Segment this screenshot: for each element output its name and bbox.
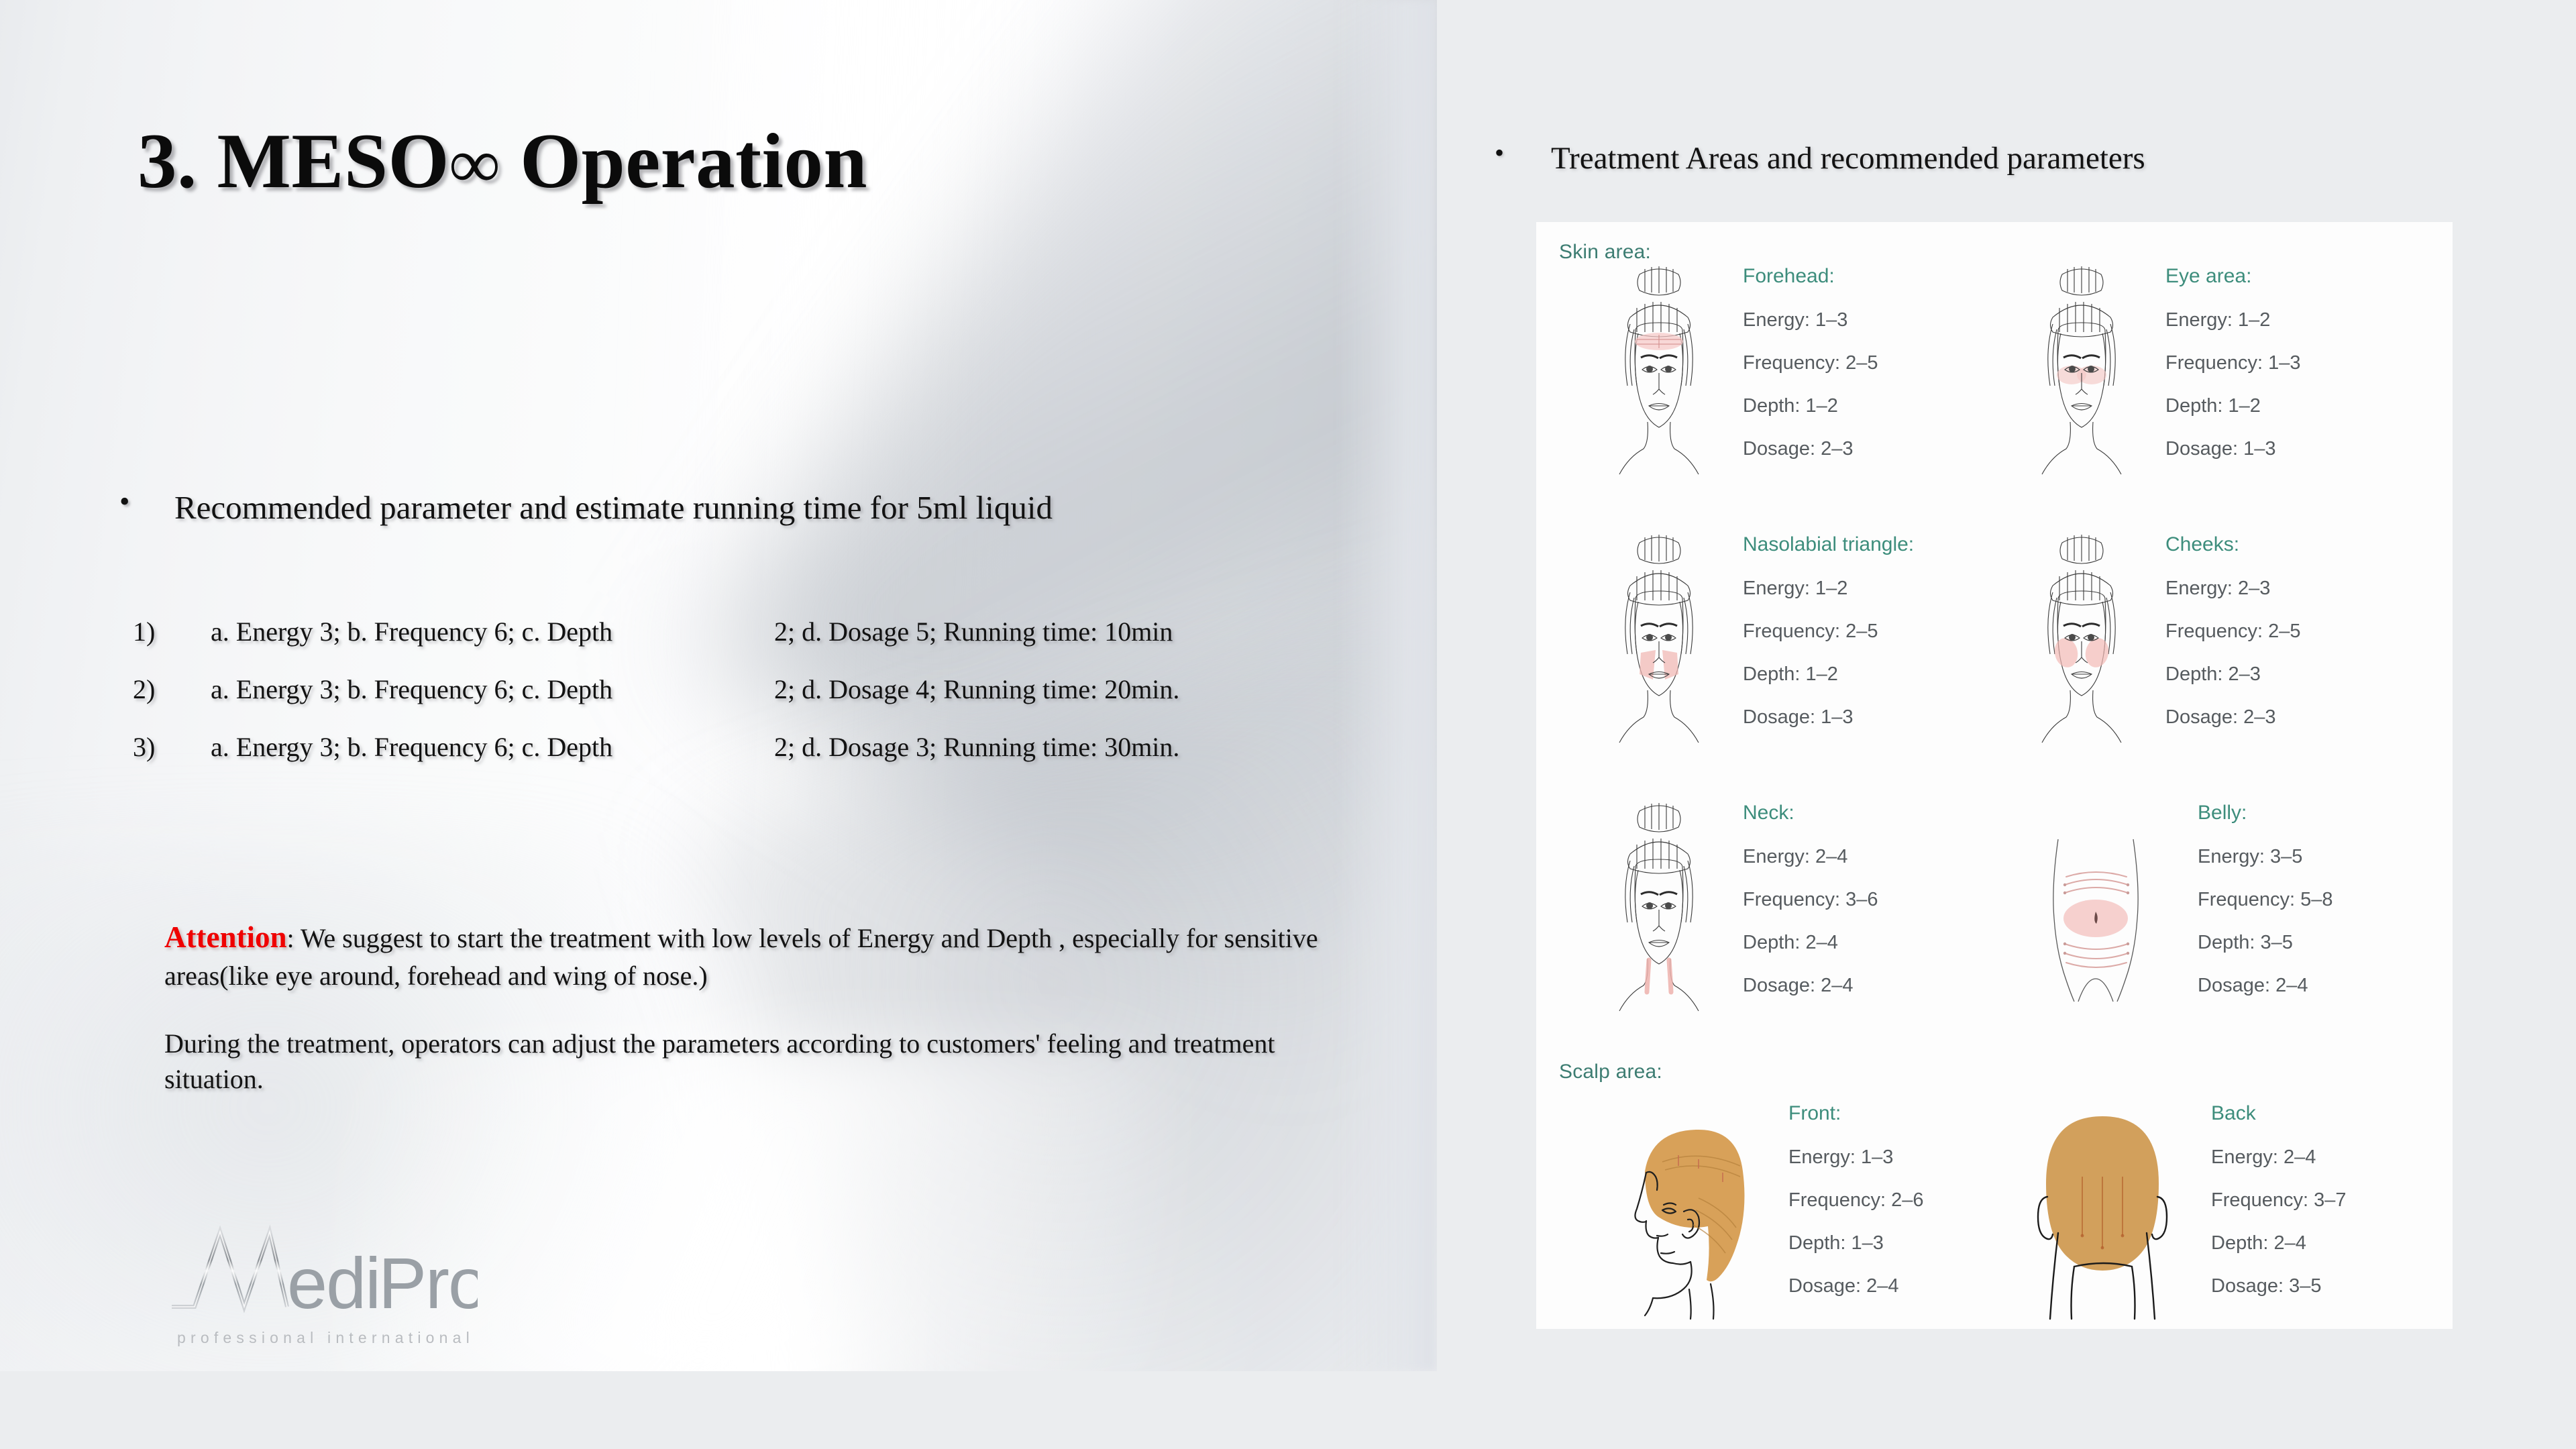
param-frequency: Frequency: 2–5 — [1743, 352, 2014, 374]
area-params: Nasolabial triangle: Energy: 1–2 Frequen… — [1720, 519, 2014, 749]
chart-row: Forehead: Energy: 1–3 Frequency: 2–5 Dep… — [1536, 250, 2453, 519]
area-title: Belly: — [2198, 802, 2436, 824]
face-cheeks-figure — [2021, 519, 2143, 760]
chart-row: Front: Energy: 1–3 Frequency: 2–6 Depth:… — [1536, 1087, 2453, 1329]
bullet-dot-icon: • — [1495, 140, 1516, 166]
title-prefix: 3. MESO — [138, 118, 449, 205]
area-title: Eye area: — [2165, 265, 2436, 288]
area-cell-nasolabial: Nasolabial triangle: Energy: 1–2 Frequen… — [1598, 519, 2014, 787]
area-title: Cheeks: — [2165, 533, 2436, 556]
area-params: Forehead: Energy: 1–3 Frequency: 2–5 Dep… — [1720, 250, 2014, 481]
face-eye-figure — [2021, 250, 2143, 492]
numbered-parameter-list: 1) a. Energy 3; b. Frequency 6; c. Depth… — [133, 619, 1340, 792]
param-frequency: Frequency: 1–3 — [2165, 352, 2436, 374]
area-title: Back — [2211, 1102, 2436, 1125]
area-params: Front: Energy: 1–3 Frequency: 2–6 Depth:… — [1766, 1087, 2014, 1318]
section-label-scalp: Scalp area: — [1559, 1061, 1662, 1083]
face-nasolabial-figure — [1598, 519, 1720, 760]
list-item: 1) a. Energy 3; b. Frequency 6; c. Depth… — [133, 619, 1340, 645]
title-suffix: Operation — [500, 118, 867, 205]
param-frequency: Frequency: 2–5 — [1743, 621, 2014, 643]
bullet-dot-icon: • — [119, 487, 142, 517]
param-frequency: Frequency: 5–8 — [2198, 889, 2436, 911]
right-bullet-text: Treatment Areas and recommended paramete… — [1551, 140, 2145, 177]
area-params: Belly: Energy: 3–5 Frequency: 5–8 Depth:… — [2175, 787, 2436, 1018]
area-title: Front: — [1788, 1102, 2014, 1125]
param-energy: Energy: 2–4 — [2211, 1146, 2436, 1169]
area-params: Eye area: Energy: 1–2 Frequency: 1–3 Dep… — [2143, 250, 2436, 481]
area-cell-neck: Neck: Energy: 2–4 Frequency: 3–6 Depth: … — [1598, 787, 2014, 1055]
list-item-index: 2) — [133, 676, 211, 703]
head-back-figure — [2021, 1087, 2188, 1329]
param-depth: Depth: 1–3 — [1788, 1232, 2014, 1254]
area-cell-front: Front: Energy: 1–3 Frequency: 2–6 Depth:… — [1598, 1087, 2014, 1329]
chart-row: Nasolabial triangle: Energy: 1–2 Frequen… — [1536, 519, 2453, 787]
param-energy: Energy: 1–2 — [2165, 309, 2436, 331]
param-frequency: Frequency: 3–7 — [2211, 1189, 2436, 1212]
area-params: Neck: Energy: 2–4 Frequency: 3–6 Depth: … — [1720, 787, 2014, 1018]
param-dosage: Dosage: 2–4 — [1788, 1275, 2014, 1297]
param-energy: Energy: 3–5 — [2198, 846, 2436, 868]
area-title: Nasolabial triangle: — [1743, 533, 2014, 556]
param-dosage: Dosage: 1–3 — [2165, 438, 2436, 460]
lead-bullet-text: Recommended parameter and estimate runni… — [174, 487, 1053, 528]
param-frequency: Frequency: 2–6 — [1788, 1189, 2014, 1212]
svg-text:Pro: Pro — [378, 1242, 478, 1324]
param-depth: Depth: 1–2 — [1743, 395, 2014, 417]
param-energy: Energy: 1–3 — [1788, 1146, 2014, 1169]
lead-bullet-row: • Recommended parameter and estimate run… — [119, 487, 1053, 528]
attention-paragraph: Attention: We suggest to start the treat… — [164, 918, 1365, 994]
list-item-segment-b: 2; d. Dosage 4; Running time: 20min. — [774, 676, 1179, 703]
list-item-segment-a: a. Energy 3; b. Frequency 6; c. Depth — [211, 676, 774, 703]
area-cell-cheeks: Cheeks: Energy: 2–3 Frequency: 2–5 Depth… — [2021, 519, 2436, 787]
param-depth: Depth: 3–5 — [2198, 932, 2436, 954]
svg-text:edi: edi — [287, 1242, 380, 1324]
area-title: Forehead: — [1743, 265, 2014, 288]
list-item-index: 3) — [133, 734, 211, 761]
infinity-symbol: ∞ — [449, 124, 500, 203]
param-energy: Energy: 1–3 — [1743, 309, 2014, 331]
param-dosage: Dosage: 1–3 — [1743, 706, 2014, 729]
param-dosage: Dosage: 2–4 — [1743, 975, 2014, 997]
param-dosage: Dosage: 2–4 — [2198, 975, 2436, 997]
param-depth: Depth: 1–2 — [2165, 395, 2436, 417]
presentation-slide: 3. MESO∞ Operation • Recommended paramet… — [0, 0, 2576, 1449]
param-depth: Depth: 2–4 — [1743, 932, 2014, 954]
list-item: 2) a. Energy 3; b. Frequency 6; c. Depth… — [133, 676, 1340, 703]
right-bullet-row: • Treatment Areas and recommended parame… — [1495, 140, 2145, 177]
area-params: Back Energy: 2–4 Frequency: 3–7 Depth: 2… — [2188, 1087, 2436, 1318]
face-neck-figure — [1598, 787, 1720, 1028]
param-depth: Depth: 2–3 — [2165, 663, 2436, 686]
param-depth: Depth: 2–4 — [2211, 1232, 2436, 1254]
attention-body: : We suggest to start the treatment with… — [164, 923, 1318, 991]
param-frequency: Frequency: 2–5 — [2165, 621, 2436, 643]
param-dosage: Dosage: 2–3 — [1743, 438, 2014, 460]
list-item-index: 1) — [133, 619, 211, 645]
param-energy: Energy: 2–4 — [1743, 846, 2014, 868]
param-energy: Energy: 1–2 — [1743, 578, 2014, 600]
param-dosage: Dosage: 2–3 — [2165, 706, 2436, 729]
list-item-segment-b: 2; d. Dosage 5; Running time: 10min — [774, 619, 1173, 645]
area-cell-back: Back Energy: 2–4 Frequency: 3–7 Depth: 2… — [2021, 1087, 2436, 1329]
param-frequency: Frequency: 3–6 — [1743, 889, 2014, 911]
area-cell-eye: Eye area: Energy: 1–2 Frequency: 1–3 Dep… — [2021, 250, 2436, 519]
head-profile-figure — [1598, 1087, 1766, 1329]
area-cell-forehead: Forehead: Energy: 1–3 Frequency: 2–5 Dep… — [1598, 250, 2014, 519]
area-cell-belly: Belly: Energy: 3–5 Frequency: 5–8 Depth:… — [2021, 787, 2436, 1055]
param-energy: Energy: 2–3 — [2165, 578, 2436, 600]
medipro-logo-graphic: edi Pro — [169, 1207, 478, 1348]
list-item-segment-a: a. Energy 3; b. Frequency 6; c. Depth — [211, 619, 774, 645]
treatment-areas-chart: Skin area: Scalp area: — [1536, 222, 2453, 1329]
face-forehead-figure — [1598, 250, 1720, 492]
list-item-segment-b: 2; d. Dosage 3; Running time: 30min. — [774, 734, 1179, 761]
list-item: 3) a. Energy 3; b. Frequency 6; c. Depth… — [133, 734, 1340, 761]
area-title: Neck: — [1743, 802, 2014, 824]
list-item-segment-a: a. Energy 3; b. Frequency 6; c. Depth — [211, 734, 774, 761]
param-dosage: Dosage: 3–5 — [2211, 1275, 2436, 1297]
attention-block: Attention: We suggest to start the treat… — [164, 918, 1365, 1097]
logo-tagline: professional international — [177, 1329, 474, 1347]
page-title: 3. MESO∞ Operation — [138, 119, 867, 204]
param-depth: Depth: 1–2 — [1743, 663, 2014, 686]
note-paragraph: During the treatment, operators can adju… — [164, 1026, 1365, 1097]
medipro-logo: edi Pro professional international — [169, 1207, 478, 1348]
left-content-area: 3. MESO∞ Operation • Recommended paramet… — [0, 0, 1437, 1371]
attention-label: Attention — [164, 920, 286, 954]
torso-belly-figure — [2021, 787, 2175, 1028]
area-params: Cheeks: Energy: 2–3 Frequency: 2–5 Depth… — [2143, 519, 2436, 749]
chart-row: Neck: Energy: 2–4 Frequency: 3–6 Depth: … — [1536, 787, 2453, 1055]
